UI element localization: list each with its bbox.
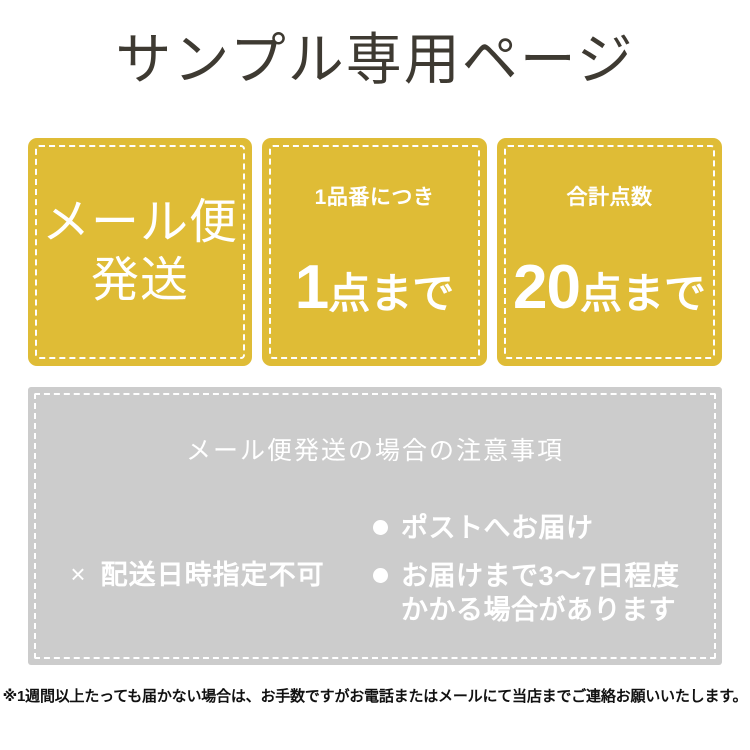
card-per-item-limit-content: 1品番につき 1点まで	[262, 185, 487, 319]
notice-bullet-list: ポストへお届け お届けまで3〜7日程度 かかる場合があります	[373, 505, 722, 627]
shipping-info-cards: メール便 発送 1品番につき 1点まで 合計点数 20点まで	[28, 138, 722, 366]
card-total-quantity-limit: 合計点数 20点まで	[497, 138, 722, 366]
page-title: サンプル専用ページ	[0, 28, 750, 92]
list-item: お届けまで3〜7日程度 かかる場合があります	[373, 559, 722, 627]
card-total-quantity-limit-number: 20	[513, 253, 580, 322]
bullet-dot-icon	[373, 568, 388, 583]
card-per-item-limit-number: 1	[295, 253, 328, 322]
notice-bullet-text: ポストへお届け	[401, 511, 594, 545]
notice-body: × 配送日時指定不可 ポストへお届け お届けまで3〜7日程度 かかる場合がありま…	[28, 505, 722, 645]
footer-note: ※1週間以上たっても届かない場合は、お手数ですがお電話またはメールにて当店までご…	[0, 686, 750, 708]
card-total-quantity-limit-unit: 点まで	[580, 270, 706, 317]
notice-restriction-label: 配送日時指定不可	[101, 558, 325, 592]
notice-restriction-row: × 配送日時指定不可	[70, 558, 324, 592]
card-shipping-method-line1: メール便	[28, 194, 252, 252]
notice-panel: メール便発送の場合の注意事項 × 配送日時指定不可 ポストへお届け お届けまで3…	[28, 387, 722, 665]
card-shipping-method-line2: 発送	[28, 252, 252, 310]
card-per-item-limit-unit: 点まで	[328, 270, 454, 317]
card-per-item-limit-amount: 1点まで	[262, 257, 487, 319]
list-item: ポストへお届け	[373, 511, 722, 545]
notice-restriction: × 配送日時指定不可	[28, 505, 373, 645]
sample-page-banner: サンプル専用ページ メール便 発送 1品番につき 1点まで 合計点数	[0, 0, 750, 750]
bullet-dot-icon	[373, 520, 388, 535]
card-shipping-method-content: メール便 発送	[28, 194, 252, 310]
card-shipping-method: メール便 発送	[28, 138, 252, 366]
card-total-quantity-limit-amount: 20点まで	[497, 257, 722, 319]
card-per-item-limit-caption: 1品番につき	[262, 185, 487, 211]
card-per-item-limit: 1品番につき 1点まで	[262, 138, 487, 366]
card-total-quantity-limit-caption: 合計点数	[497, 185, 722, 211]
cross-icon: ×	[70, 561, 86, 587]
card-total-quantity-limit-content: 合計点数 20点まで	[497, 185, 722, 319]
notice-bullet-text: お届けまで3〜7日程度 かかる場合があります	[401, 559, 680, 627]
notice-heading: メール便発送の場合の注意事項	[28, 435, 722, 467]
